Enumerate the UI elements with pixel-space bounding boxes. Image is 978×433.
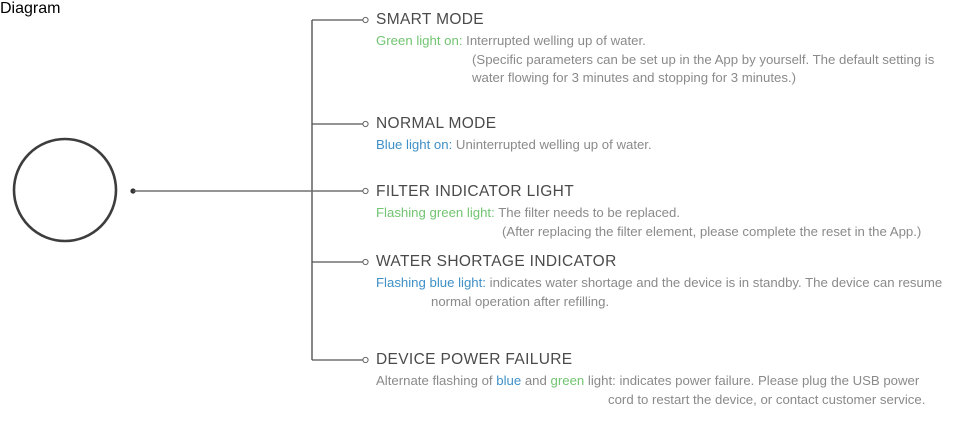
callout-line-water-2: normal operation after refilling.	[376, 293, 942, 312]
branch-endpoint-normal	[363, 121, 368, 126]
lead-word-green: green	[551, 373, 585, 388]
callout-body-normal-mode: Blue light on: Uninterrupted welling up …	[376, 136, 652, 155]
callout-title-smart-mode: SMART MODE	[376, 10, 934, 29]
lead-label-smart-mode: Green light on:	[376, 33, 463, 48]
lead-suffix-power-failure: light:	[584, 373, 616, 388]
callout-body-filter-indicator-light: Flashing green light: The filter needs t…	[376, 204, 921, 241]
callout-line-power-1: indicates power failure. Please plug the…	[616, 373, 919, 388]
lead-word-blue: blue	[496, 373, 521, 388]
branch-endpoint-filter	[363, 188, 368, 193]
callout-title-normal-mode: NORMAL MODE	[376, 114, 652, 133]
branch-endpoint-water	[363, 259, 368, 264]
lead-prefix-power-failure: Alternate flashing of	[376, 373, 496, 388]
callout-line-smart-1: Interrupted welling up of water.	[463, 33, 646, 48]
callout-line-water-1: indicates water shortage and the device …	[486, 275, 942, 290]
callout-body-water-shortage-indicator: Flashing blue light: indicates water sho…	[376, 274, 942, 311]
callout-body-device-power-failure: Alternate flashing of blue and green lig…	[376, 372, 925, 409]
callout-title-filter-indicator-light: FILTER INDICATOR LIGHT	[376, 182, 921, 201]
branch-endpoint-smart	[363, 17, 368, 22]
callout-water-shortage-indicator: WATER SHORTAGE INDICATOR Flashing blue l…	[376, 252, 942, 311]
callout-line-normal-1: Uninterrupted welling up of water.	[452, 137, 651, 152]
callout-title-device-power-failure: DEVICE POWER FAILURE	[376, 350, 925, 369]
callout-normal-mode: NORMAL MODE Blue light on: Uninterrupted…	[376, 114, 652, 155]
lead-label-normal-mode: Blue light on:	[376, 137, 452, 152]
branch-endpoint-power	[363, 357, 368, 362]
device-circle	[14, 139, 116, 241]
indicator-legend-diagram: SMART MODE Green light on: Interrupted w…	[0, 0, 978, 433]
lead-label-water-shortage-indicator: Flashing blue light:	[376, 275, 486, 290]
callout-line-power-2: cord to restart the device, or contact c…	[376, 391, 925, 410]
callout-filter-indicator-light: FILTER INDICATOR LIGHT Flashing green li…	[376, 182, 921, 241]
callout-line-smart-2: (Specific parameters can be set up in th…	[376, 51, 934, 70]
callout-line-filter-2: (After replacing the filter element, ple…	[376, 223, 921, 242]
callout-body-smart-mode: Green light on: Interrupted welling up o…	[376, 32, 934, 88]
lead-label-filter-indicator-light: Flashing green light:	[376, 205, 495, 220]
callout-title-water-shortage-indicator: WATER SHORTAGE INDICATOR	[376, 252, 942, 271]
lead-middle-power-failure: and	[521, 373, 550, 388]
callout-line-smart-3: water flowing for 3 minutes and stopping…	[376, 69, 934, 88]
callout-device-power-failure: DEVICE POWER FAILURE Alternate flashing …	[376, 350, 925, 409]
callout-smart-mode: SMART MODE Green light on: Interrupted w…	[376, 10, 934, 88]
leader-dot	[130, 188, 135, 193]
callout-line-filter-1: The filter needs to be replaced.	[495, 205, 680, 220]
